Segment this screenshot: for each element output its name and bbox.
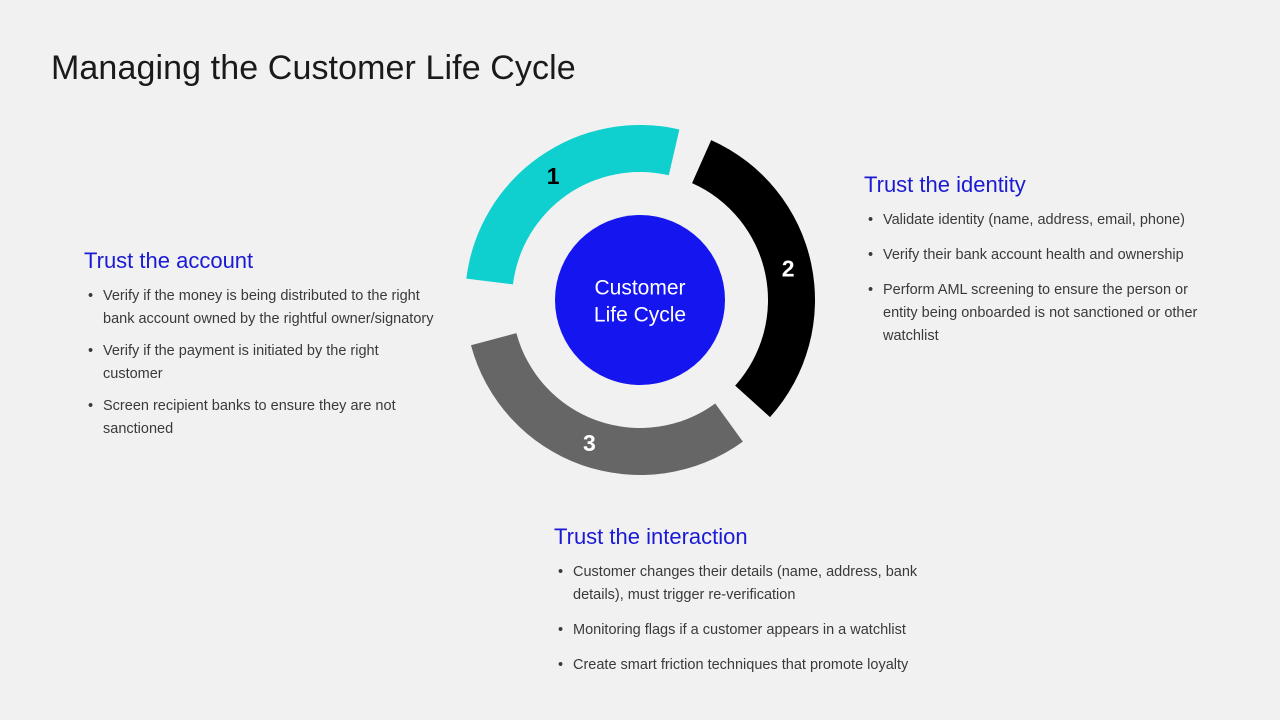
bullet-text: Verify their bank account health and own… <box>883 247 1184 263</box>
bullet-item: •Perform AML screening to ensure the per… <box>864 279 1224 348</box>
bullet-text: Screen recipient banks to ensure they ar… <box>103 398 396 437</box>
bullet-dot-icon: • <box>88 285 93 308</box>
block-trust-the-interaction: Trust the interaction •Customer changes … <box>554 523 964 689</box>
bullet-list-account: •Verify if the money is being distribute… <box>84 285 434 441</box>
bullet-item: •Verify if the money is being distribute… <box>84 285 434 331</box>
bullet-item: •Screen recipient banks to ensure they a… <box>84 395 434 441</box>
bullet-item: •Verify their bank account health and ow… <box>864 244 1224 267</box>
bullet-text: Verify if the payment is initiated by th… <box>103 343 379 382</box>
bullet-item: •Monitoring flags if a customer appears … <box>554 619 964 642</box>
slide-canvas: Managing the Customer Life Cycle Custome… <box>0 0 1280 720</box>
center-label-line1: Customer <box>594 277 685 300</box>
bullet-list-identity: •Validate identity (name, address, email… <box>864 209 1224 348</box>
bullet-item: •Validate identity (name, address, email… <box>864 209 1224 232</box>
bullet-text: Verify if the money is being distributed… <box>103 288 433 327</box>
bullet-dot-icon: • <box>868 244 873 267</box>
segment-number-1: 1 <box>547 163 560 189</box>
bullet-dot-icon: • <box>88 340 93 363</box>
bullet-dot-icon: • <box>558 561 563 584</box>
center-circle <box>555 215 725 385</box>
bullet-item: •Verify if the payment is initiated by t… <box>84 340 434 386</box>
bullet-text: Validate identity (name, address, email,… <box>883 212 1185 228</box>
segment-number-3: 3 <box>583 430 596 456</box>
heading-trust-the-identity: Trust the identity <box>864 171 1224 199</box>
bullet-text: Perform AML screening to ensure the pers… <box>883 282 1197 344</box>
bullet-list-interaction: •Customer changes their details (name, a… <box>554 561 964 677</box>
bullet-dot-icon: • <box>558 654 563 677</box>
page-title: Managing the Customer Life Cycle <box>51 48 576 88</box>
block-trust-the-identity: Trust the identity •Validate identity (n… <box>864 171 1224 360</box>
heading-trust-the-interaction: Trust the interaction <box>554 523 964 551</box>
customer-life-cycle-diagram: Customer Life Cycle 123 <box>450 110 830 490</box>
bullet-item: •Customer changes their details (name, a… <box>554 561 964 607</box>
block-trust-the-account: Trust the account •Verify if the money i… <box>84 247 434 441</box>
bullet-item: •Create smart friction techniques that p… <box>554 654 964 677</box>
bullet-dot-icon: • <box>558 619 563 642</box>
center-label-line2: Life Cycle <box>594 304 686 327</box>
bullet-text: Monitoring flags if a customer appears i… <box>573 622 906 638</box>
bullet-text: Customer changes their details (name, ad… <box>573 564 917 603</box>
bullet-dot-icon: • <box>868 209 873 232</box>
bullet-dot-icon: • <box>868 279 873 302</box>
segment-number-2: 2 <box>782 256 795 282</box>
bullet-dot-icon: • <box>88 395 93 418</box>
bullet-text: Create smart friction techniques that pr… <box>573 657 908 673</box>
heading-trust-the-account: Trust the account <box>84 247 434 275</box>
